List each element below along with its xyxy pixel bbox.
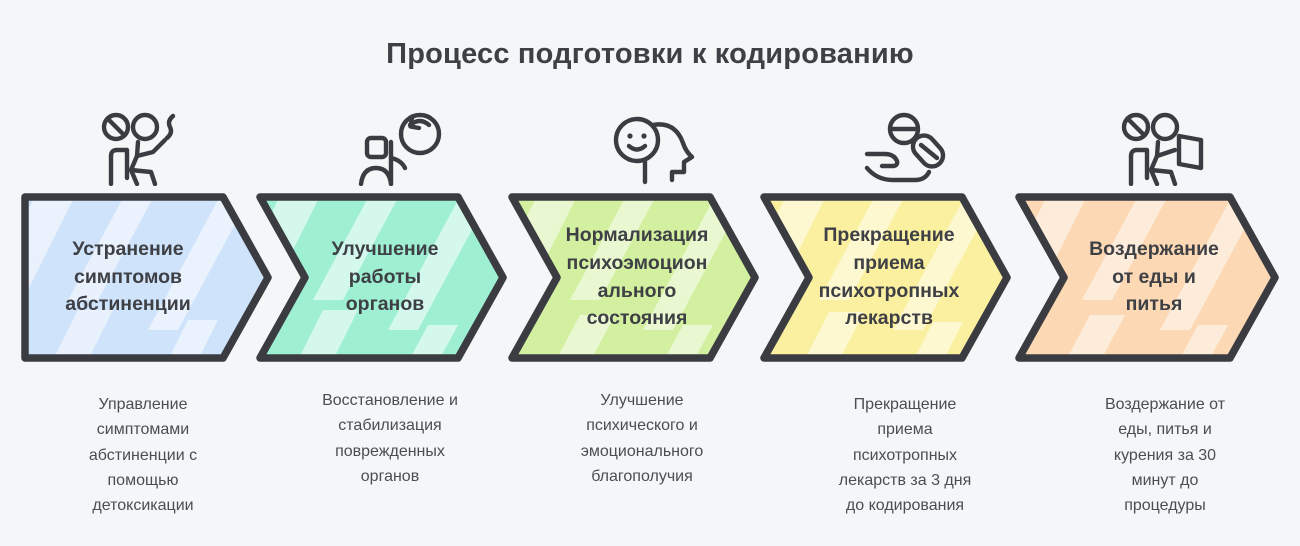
caption-line: органов bbox=[275, 464, 505, 489]
process-step-2-caption: Восстановление и стабилизация поврежденн… bbox=[275, 388, 505, 489]
caption-line: психотропных bbox=[790, 443, 1020, 468]
process-infographic: Процесс подготовки к кодированию bbox=[0, 0, 1300, 546]
caption-line: Управление bbox=[28, 392, 258, 417]
no-smoking-seated-person-icon bbox=[88, 108, 198, 190]
caption-line: поврежденных bbox=[275, 439, 505, 464]
process-step-1[interactable]: Устранение симптомов абстиненции bbox=[18, 190, 293, 365]
process-step-5[interactable]: Воздержание от еды и питья bbox=[1012, 190, 1287, 365]
caption-line: Восстановление и bbox=[275, 388, 505, 413]
hand-with-pills-icon bbox=[852, 108, 962, 190]
caption-line: благополучия bbox=[527, 464, 757, 489]
process-step-1-caption: Управление симптомами абстиненции с помо… bbox=[28, 392, 258, 518]
caption-line: курения за 30 bbox=[1050, 443, 1280, 468]
caption-line: стабилизация bbox=[275, 413, 505, 438]
caption-line: Прекращение bbox=[790, 392, 1020, 417]
caption-line: симптомами bbox=[28, 417, 258, 442]
process-step-3-caption: Улучшение психического и эмоционального … bbox=[527, 388, 757, 489]
caption-line: еды, питья и bbox=[1050, 417, 1280, 442]
caption-line: лекарств за 3 дня bbox=[790, 468, 1020, 493]
chevron-row: Устранение симптомов абстиненции bbox=[0, 190, 1300, 365]
caption-line: приема bbox=[790, 417, 1020, 442]
caption-line: Воздержание от bbox=[1050, 392, 1280, 417]
caption-line: помощью bbox=[28, 468, 258, 493]
caption-line: процедуры bbox=[1050, 493, 1280, 518]
icon-row bbox=[0, 108, 1300, 190]
process-step-5-caption: Воздержание от еды, питья и курения за 3… bbox=[1050, 392, 1280, 518]
head-profile-smiley-icon bbox=[598, 108, 708, 190]
caption-row: Управление симптомами абстиненции с помо… bbox=[0, 392, 1300, 542]
no-eating-seated-person-icon bbox=[1108, 108, 1218, 190]
process-step-4[interactable]: Прекращение приема психотропных лекарств bbox=[757, 190, 1032, 365]
process-step-3[interactable]: Нормализация психоэмоцион ального состоя… bbox=[505, 190, 780, 365]
caption-line: минут до bbox=[1050, 468, 1280, 493]
caption-line: до кодирования bbox=[790, 493, 1020, 518]
caption-line: детоксикации bbox=[28, 493, 258, 518]
caption-line: абстиненции с bbox=[28, 443, 258, 468]
caption-line: эмоционального bbox=[527, 439, 757, 464]
caption-line: Улучшение bbox=[527, 388, 757, 413]
page-title: Процесс подготовки к кодированию bbox=[0, 38, 1300, 71]
caption-line: психического и bbox=[527, 413, 757, 438]
process-step-2[interactable]: Улучшение работы органов bbox=[253, 190, 528, 365]
person-recovery-refresh-icon bbox=[348, 108, 458, 190]
process-step-4-caption: Прекращение приема психотропных лекарств… bbox=[790, 392, 1020, 518]
